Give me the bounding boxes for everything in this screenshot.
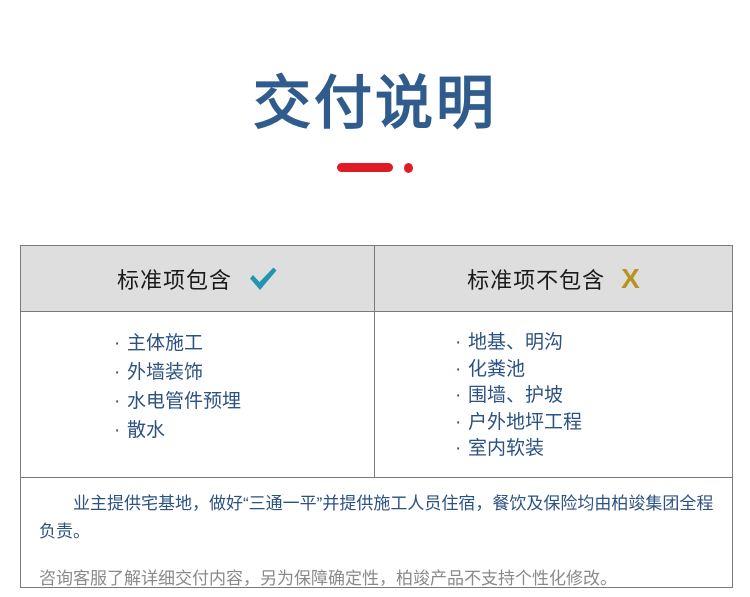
page-title: 交付说明 [0,74,750,135]
table-header-cell-included: 标准项包含 [21,246,375,311]
list-item-label: 化粪池 [468,359,525,380]
delivery-scope-table: 标准项包含 标准项不包含 X ·主体施工 ·外墙装饰 ·水电管件预埋 ·散水 [20,245,733,588]
divider-bar-icon [337,163,393,172]
list-item-label: 围墙、护坡 [468,385,563,406]
list-item-label: 散水 [127,420,165,441]
included-items-list: ·主体施工 ·外墙装饰 ·水电管件预埋 ·散水 [114,330,374,446]
table-cell-included-items: ·主体施工 ·外墙装饰 ·水电管件预埋 ·散水 [21,312,375,477]
list-item-label: 主体施工 [127,333,203,354]
table-footer-notes: 业主提供宅基地，做好“三通一平”并提供施工人员住宿，餐饮及保险均由柏竣集团全程负… [21,478,732,592]
header-label-included: 标准项包含 [117,263,232,295]
bullet-icon: · [455,357,468,384]
list-item: ·水电管件预埋 [114,388,374,417]
title-divider [0,162,750,174]
table-body-row: ·主体施工 ·外墙装饰 ·水电管件预埋 ·散水 ·地基、明沟 ·化粪池 ·围墙、… [21,312,732,478]
list-item: ·外墙装饰 [114,359,374,388]
note-primary: 业主提供宅基地，做好“三通一平”并提供施工人员住宿，餐饮及保险均由柏竣集团全程负… [39,490,714,545]
excluded-items-list: ·地基、明沟 ·化粪池 ·围墙、护坡 ·户外地坪工程 ·室内软装 [455,330,732,463]
list-item: ·地基、明沟 [455,330,732,357]
divider-dot-icon [404,163,413,173]
list-item: ·户外地坪工程 [455,410,732,437]
bullet-icon: · [114,417,127,446]
list-item-label: 外墙装饰 [127,362,203,383]
note-secondary: 咨询客服了解详细交付内容，另为保障确定性，柏竣产品不支持个性化修改。 [39,565,714,592]
table-cell-excluded-items: ·地基、明沟 ·化粪池 ·围墙、护坡 ·户外地坪工程 ·室内软装 [375,312,732,477]
header-label-excluded: 标准项不包含 [467,263,605,295]
list-item-label: 室内软装 [468,438,544,459]
list-item-label: 户外地坪工程 [468,412,582,433]
bullet-icon: · [455,410,468,437]
bullet-icon: · [455,330,468,357]
list-item: ·化粪池 [455,357,732,384]
title-block: 交付说明 [0,0,750,174]
delivery-description-page: 交付说明 标准项包含 标准项不包含 X [0,0,750,597]
check-icon [248,266,278,292]
list-item-label: 水电管件预埋 [127,391,241,412]
bullet-icon: · [114,359,127,388]
table-header-row: 标准项包含 标准项不包含 X [21,246,732,312]
list-item: ·主体施工 [114,330,374,359]
table-header-cell-excluded: 标准项不包含 X [375,246,732,311]
x-icon: X [621,265,640,293]
list-item: ·室内软装 [455,436,732,463]
list-item: ·散水 [114,417,374,446]
bullet-icon: · [455,383,468,410]
bullet-icon: · [114,388,127,417]
bullet-icon: · [114,330,127,359]
list-item: ·围墙、护坡 [455,383,732,410]
list-item-label: 地基、明沟 [468,332,563,353]
bullet-icon: · [455,436,468,463]
